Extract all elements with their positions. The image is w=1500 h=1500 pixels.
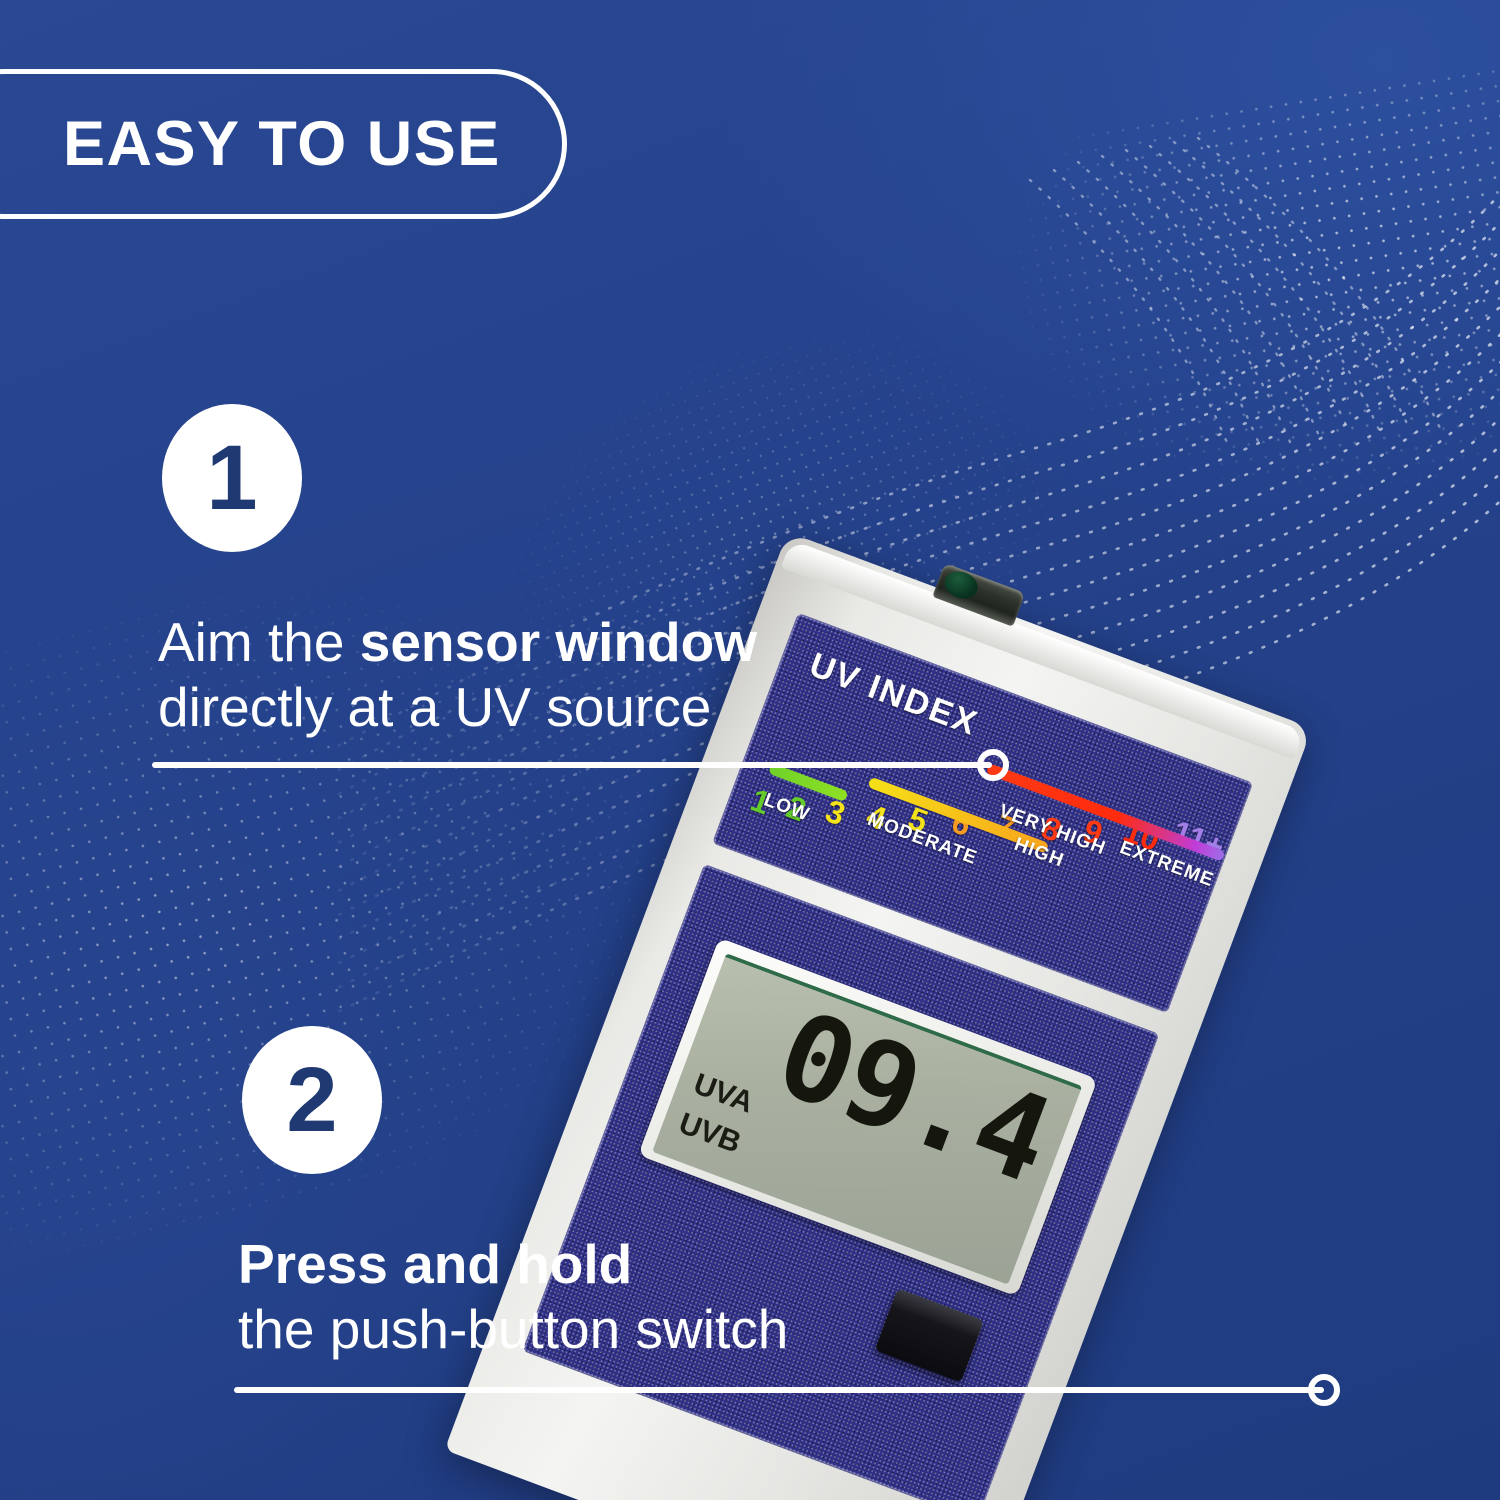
step-2-leader-line	[234, 1387, 1324, 1393]
step-1-number-badge: 1	[162, 404, 302, 552]
step-2-text: Press and hold the push-button switch	[238, 1232, 788, 1362]
step-2-number: 2	[286, 1054, 337, 1146]
step-1: 1 Aim the sensor window directly at a UV…	[162, 404, 757, 740]
step-2: 2 Press and hold the push-button switch	[242, 1026, 788, 1362]
badge-label: EASY TO USE	[63, 108, 501, 180]
step-1-text-prefix: Aim the	[158, 611, 360, 673]
easy-to-use-badge: EASY TO USE	[0, 69, 567, 219]
step-1-callout-marker	[977, 749, 1009, 781]
step-1-text-line2: directly at a UV source	[158, 675, 757, 740]
step-1-text: Aim the sensor window directly at a UV s…	[158, 610, 757, 740]
easy-to-use-infographic: EASY TO USE UV INDEX 1 2 3 4 5 6 7 8	[0, 0, 1500, 1500]
step-2-text-bold: Press and hold	[238, 1232, 788, 1297]
step-1-text-bold: sensor window	[360, 611, 757, 673]
step-2-callout-marker	[1308, 1374, 1340, 1406]
step-2-number-badge: 2	[242, 1026, 382, 1174]
step-1-leader-line	[152, 762, 992, 768]
step-2-text-line2: the push-button switch	[238, 1297, 788, 1362]
step-1-number: 1	[206, 432, 257, 524]
